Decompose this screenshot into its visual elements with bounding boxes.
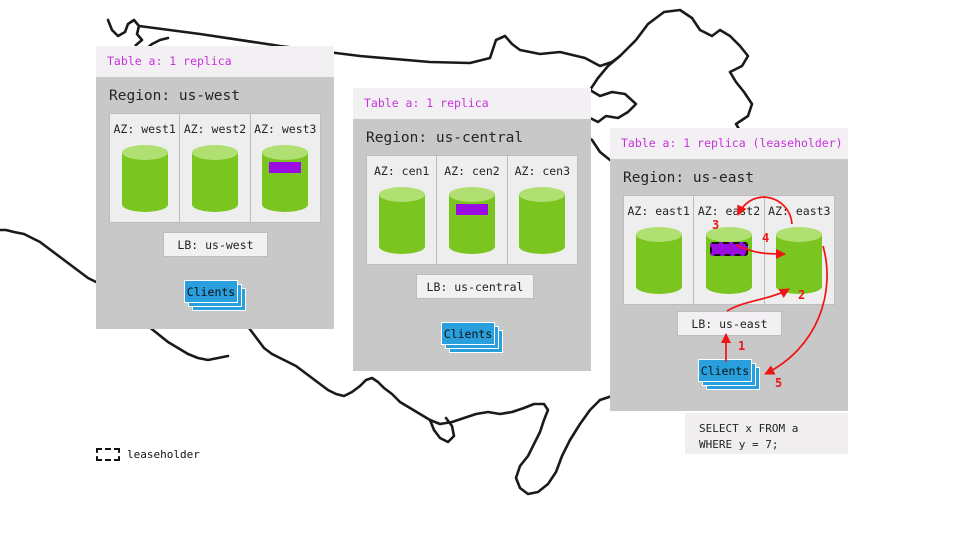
clients-us-central[interactable]: Clients bbox=[441, 322, 503, 352]
leaseholder-replica-east2[interactable] bbox=[710, 242, 748, 256]
load-balancer-us-west[interactable]: LB: us-west bbox=[163, 232, 268, 257]
clients-label-us-west[interactable]: Clients bbox=[184, 280, 238, 303]
az-cell-cen1[interactable]: AZ: cen1 bbox=[367, 156, 437, 264]
step-number-1: 1 bbox=[738, 339, 745, 353]
db-node-cen1[interactable] bbox=[379, 187, 425, 254]
db-node-west2[interactable] bbox=[192, 145, 238, 212]
az-cell-east1[interactable]: AZ: east1 bbox=[624, 196, 694, 304]
az-label-east3: AZ: east3 bbox=[768, 204, 830, 218]
region-panel-us-central: Table a: 1 replica Region: us-central AZ… bbox=[353, 88, 591, 371]
legend-label: leaseholder bbox=[127, 448, 200, 461]
cylinder-top bbox=[122, 145, 168, 160]
az-label-west3: AZ: west3 bbox=[254, 122, 316, 136]
cylinder-top bbox=[636, 227, 682, 242]
db-node-cen3[interactable] bbox=[519, 187, 565, 254]
az-cell-west3[interactable]: AZ: west3 bbox=[251, 114, 320, 222]
region-title-us-east: Region: us-east bbox=[610, 159, 848, 195]
db-node-west1[interactable] bbox=[122, 145, 168, 212]
cylinder-top bbox=[192, 145, 238, 160]
az-label-cen1: AZ: cen1 bbox=[374, 164, 429, 178]
az-label-cen3: AZ: cen3 bbox=[515, 164, 570, 178]
az-strip-us-west: AZ: west1 AZ: west2 AZ: west3 bbox=[109, 113, 321, 223]
db-node-east1[interactable] bbox=[636, 227, 682, 294]
az-label-west2: AZ: west2 bbox=[184, 122, 246, 136]
az-cell-cen3[interactable]: AZ: cen3 bbox=[508, 156, 577, 264]
az-cell-west1[interactable]: AZ: west1 bbox=[110, 114, 180, 222]
region-panel-us-east: Table a: 1 replica (leaseholder) Region:… bbox=[610, 128, 848, 411]
cylinder-top bbox=[449, 187, 495, 202]
clients-label-us-east[interactable]: Clients bbox=[698, 359, 752, 382]
load-balancer-us-east[interactable]: LB: us-east bbox=[677, 311, 782, 336]
clients-us-west[interactable]: Clients bbox=[184, 280, 246, 310]
panel-body-us-central: Region: us-central AZ: cen1 AZ: cen2 bbox=[353, 119, 591, 265]
panel-body-us-east: Region: us-east AZ: east1 AZ: east2 bbox=[610, 159, 848, 305]
panel-header-us-central: Table a: 1 replica bbox=[353, 88, 591, 119]
step-number-2: 2 bbox=[798, 288, 805, 302]
load-balancer-us-central[interactable]: LB: us-central bbox=[416, 274, 534, 299]
az-strip-us-central: AZ: cen1 AZ: cen2 AZ: cen3 bbox=[366, 155, 578, 265]
legend: leaseholder bbox=[96, 448, 200, 461]
step-number-3: 3 bbox=[712, 218, 719, 232]
az-label-cen2: AZ: cen2 bbox=[444, 164, 499, 178]
db-node-east3[interactable] bbox=[776, 227, 822, 294]
region-title-us-central: Region: us-central bbox=[353, 119, 591, 155]
sql-query-callout: SELECT x FROM a WHERE y = 7; bbox=[685, 413, 848, 454]
panel-header-us-west: Table a: 1 replica bbox=[96, 46, 334, 77]
step-number-4: 4 bbox=[762, 231, 769, 245]
clients-us-east[interactable]: Clients bbox=[698, 359, 760, 389]
panel-header-us-east: Table a: 1 replica (leaseholder) bbox=[610, 128, 848, 159]
db-node-east2[interactable] bbox=[706, 227, 752, 294]
az-cell-cen2[interactable]: AZ: cen2 bbox=[437, 156, 507, 264]
cylinder-top bbox=[776, 227, 822, 242]
cylinder-top bbox=[519, 187, 565, 202]
az-label-east2: AZ: east2 bbox=[698, 204, 760, 218]
az-label-west1: AZ: west1 bbox=[114, 122, 176, 136]
db-node-west3[interactable] bbox=[262, 145, 308, 212]
az-cell-east2[interactable]: AZ: east2 bbox=[694, 196, 764, 304]
az-label-east1: AZ: east1 bbox=[628, 204, 690, 218]
panel-body-us-west: Region: us-west AZ: west1 AZ: west2 bbox=[96, 77, 334, 223]
region-panel-us-west: Table a: 1 replica Region: us-west AZ: w… bbox=[96, 46, 334, 329]
region-title-us-west: Region: us-west bbox=[96, 77, 334, 113]
cylinder-top bbox=[262, 145, 308, 160]
step-number-5: 5 bbox=[775, 376, 782, 390]
db-node-cen2[interactable] bbox=[449, 187, 495, 254]
az-cell-west2[interactable]: AZ: west2 bbox=[180, 114, 250, 222]
replica-cen2[interactable] bbox=[456, 204, 488, 215]
dashed-rectangle-icon bbox=[96, 448, 120, 461]
clients-label-us-central[interactable]: Clients bbox=[441, 322, 495, 345]
replica-west3[interactable] bbox=[269, 162, 301, 173]
cylinder-top bbox=[379, 187, 425, 202]
